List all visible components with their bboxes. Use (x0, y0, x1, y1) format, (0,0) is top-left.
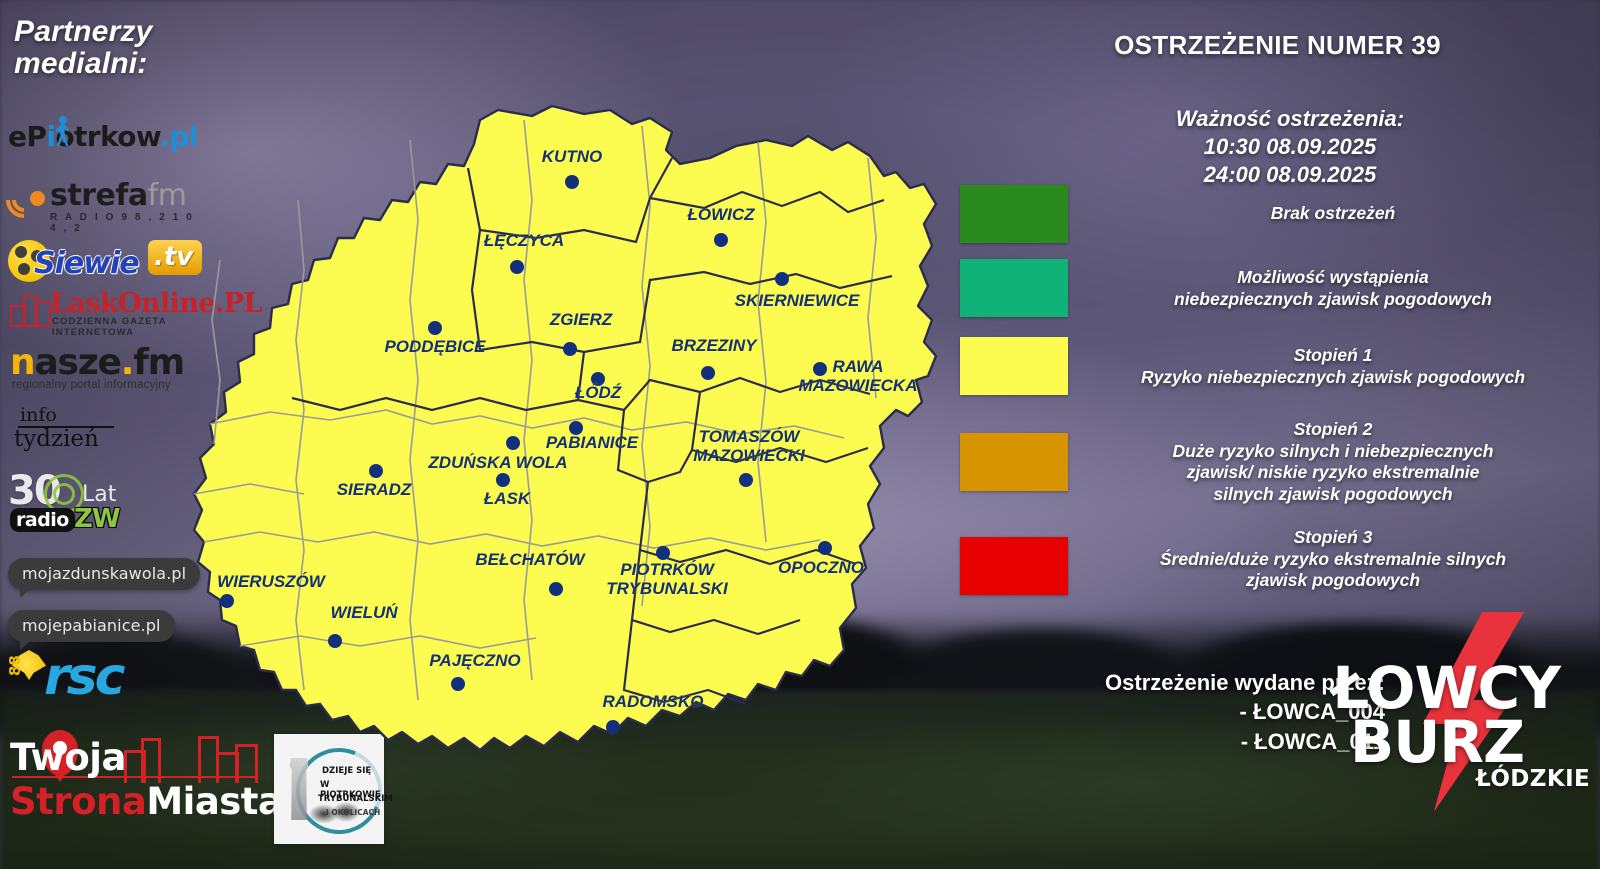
city-label: ŁĘCZYCA (483, 231, 564, 250)
city-label: PAJĘCZNO (429, 651, 520, 670)
city-dot (549, 582, 563, 596)
legend-swatch-2 (960, 337, 1068, 395)
legend-label-1: Możliwość wystąpienia niebezpiecznych zj… (1083, 267, 1583, 310)
logo-info-line1: info (20, 404, 57, 426)
city-dot (510, 260, 524, 274)
city-label: ŁASK (483, 489, 532, 508)
logo-mojazdunskawola[interactable]: mojazdunskawola.pl (8, 558, 200, 590)
city-label: WIERUSZÓW (217, 572, 327, 591)
city-label: SIERADZ (337, 480, 412, 499)
city-dot (369, 464, 383, 478)
city-label: ZGIERZ (549, 310, 613, 329)
lodzkie-voivodeship-map[interactable]: KUTNOŁOWICZŁĘCZYCASKIERNIEWICEPODDĘBICEZ… (180, 80, 970, 840)
city-label: OPOCZNO (778, 558, 864, 577)
city-label: ŁÓDŹ (574, 383, 622, 402)
city-dot (220, 594, 234, 608)
legend-swatch-0 (960, 185, 1068, 243)
logo-strefa-fm[interactable]: strefafm R A D I O 9 8 , 2 1 0 4 , 2 (6, 176, 206, 232)
logo-strefa-text: strefafm (50, 178, 186, 213)
city-label: ZDUŃSKA WOLA (427, 453, 567, 472)
logo-siewie-text: Siewie (34, 246, 139, 281)
city-label: BEŁCHATÓW (475, 550, 586, 569)
city-dot (428, 321, 442, 335)
city-dot (739, 473, 753, 487)
logo-rsc-year: 88 (6, 655, 24, 676)
legend-row: Stopień 1 Ryzyko niebezpiecznych zjawisk… (955, 333, 1600, 415)
city-label: KUTNO (542, 147, 602, 166)
city-label: PODDĘBICE (384, 337, 486, 356)
city-label: RADOMSKO (602, 692, 703, 711)
logo-zw-initials: ZW (74, 504, 120, 534)
legend-swatch-3 (960, 433, 1068, 491)
legend-row: Stopień 3 Średnie/duże ryzyko ekstremaln… (955, 515, 1600, 605)
logo-rsc[interactable]: 88 rsc (6, 650, 166, 710)
logo-tsm-strona: Strona (10, 780, 146, 823)
warning-validity: Ważność ostrzeżenia: 10:30 08.09.2025 24… (1010, 105, 1570, 189)
legend-label-2: Stopień 1 Ryzyko niebezpiecznych zjawisk… (1083, 345, 1583, 388)
logo-mojepabianice[interactable]: mojepabianice.pl (8, 610, 175, 642)
signal-waves-icon (6, 180, 48, 214)
logo-siewie-tv[interactable]: Siewie .tv (6, 238, 206, 286)
city-dot (506, 436, 520, 450)
brand-region: ŁÓDZKIE (1476, 766, 1590, 792)
legend-row: Brak ostrzeżeń (955, 185, 1600, 259)
city-dot (701, 366, 715, 380)
legend-label-4: Stopień 3 Średnie/duże ryzyko ekstremaln… (1083, 527, 1583, 592)
buildings-icon (10, 291, 48, 323)
legend-row: Stopień 2 Duże ryzyko silnych i niebezpi… (955, 415, 1600, 515)
person-icon (55, 116, 70, 148)
city-dot (606, 720, 620, 734)
city-label: PABIANICE (546, 433, 639, 452)
logo-epiotrkow[interactable]: ePiotrkow.pl (8, 120, 188, 156)
city-dot (496, 473, 510, 487)
city-label: BRZEZINY (672, 336, 759, 355)
map-region-fill (194, 106, 936, 750)
city-label: ŁOWICZ (686, 205, 755, 224)
city-dot (328, 634, 342, 648)
city-dot (565, 175, 579, 189)
city-dot (563, 342, 577, 356)
logo-radio-zw[interactable]: 30 Lat radio ZW (8, 468, 178, 530)
city-dot (818, 541, 832, 555)
warning-title: OSTRZEŻENIE NUMER 39 (955, 30, 1600, 61)
logo-zw-radio: radio (10, 508, 75, 532)
severity-legend: Brak ostrzeżeń Możliwość wystąpienia nie… (955, 185, 1600, 605)
legend-row: Możliwość wystąpienia niebezpiecznych zj… (955, 259, 1600, 333)
city-dot (714, 233, 728, 247)
logo-epiotrkow-text: ePiotrkow.pl (8, 120, 188, 153)
logo-rsc-text: rsc (44, 654, 122, 701)
map-svg: KUTNOŁOWICZŁĘCZYCASKIERNIEWICEPODDĘBICEZ… (180, 80, 970, 840)
logo-info-tydzien[interactable]: info tydzień (8, 404, 158, 456)
city-dot (656, 546, 670, 560)
lowcy-burz-logo[interactable]: ŁOWCY BURZ ŁÓDZKIE (1318, 612, 1600, 812)
city-label: TOMASZÓWMAZOWIECKI (693, 427, 806, 465)
city-label: WIELUŃ (330, 603, 398, 622)
legend-swatch-1 (960, 259, 1068, 317)
logo-info-line2: tydzień (14, 426, 99, 452)
legend-label-3: Stopień 2 Duże ryzyko silnych i niebezpi… (1083, 419, 1583, 506)
logo-nasze-sub: regionalny portal informacyjny (12, 379, 171, 391)
legend-label-0: Brak ostrzeżeń (1083, 203, 1583, 225)
city-dot (451, 677, 465, 691)
city-label: PIOTRKÓWTRYBUNALSKI (606, 560, 729, 598)
legend-swatch-4 (960, 537, 1068, 595)
city-dot (813, 362, 827, 376)
city-label: SKIERNIEWICE (735, 291, 860, 310)
partners-heading: Partnerzy medialni: (14, 16, 244, 80)
logo-tsm-line1: Twoja (10, 736, 126, 779)
voivodeship-outline (194, 106, 936, 750)
city-dot (775, 272, 789, 286)
